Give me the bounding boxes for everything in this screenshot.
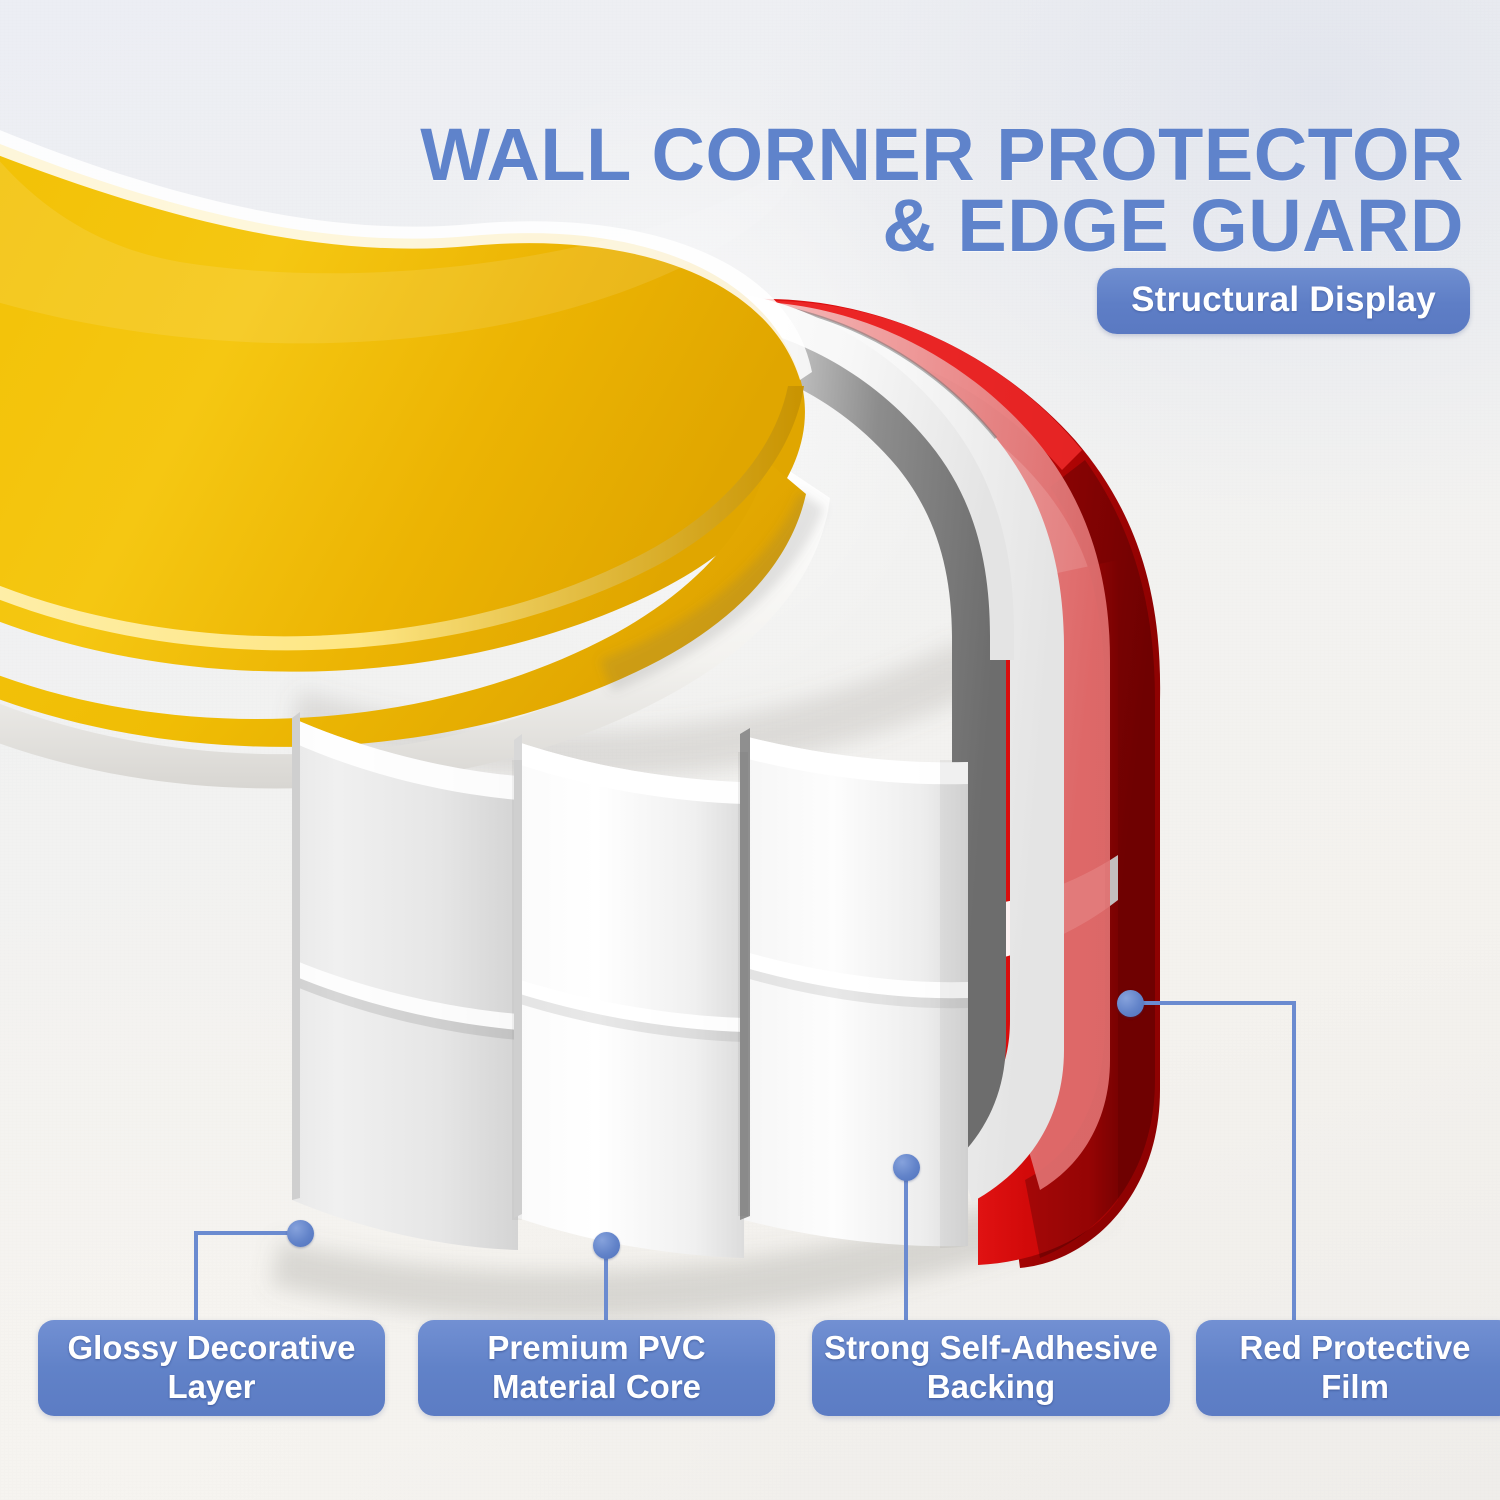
- callout-label-text: Premium PVC Material Core: [487, 1329, 705, 1407]
- callout-label-glossy-decorative-layer[interactable]: Glossy Decorative Layer: [38, 1320, 385, 1416]
- callout-label-strong-self-adhesive-backing[interactable]: Strong Self-Adhesive Backing: [812, 1320, 1170, 1416]
- callout-dot-red-protective-film[interactable]: [1117, 990, 1144, 1017]
- callout-label-text: Glossy Decorative Layer: [68, 1329, 356, 1407]
- callout-dot-premium-pvc-material-core[interactable]: [593, 1232, 620, 1259]
- connector-line-1: [196, 1233, 300, 1322]
- connector-line-4: [1132, 1003, 1294, 1322]
- callout-label-text: Red Protective Film: [1206, 1329, 1500, 1407]
- callout-dot-glossy-decorative-layer[interactable]: [287, 1220, 314, 1247]
- callout-dot-strong-self-adhesive-backing[interactable]: [893, 1154, 920, 1181]
- callout-label-red-protective-film[interactable]: Red Protective Film: [1196, 1320, 1500, 1416]
- callout-connectors: [0, 0, 1500, 1500]
- infographic-canvas: WALL CORNER PROTECTOR & EDGE GUARD Struc…: [0, 0, 1500, 1500]
- callout-label-premium-pvc-material-core[interactable]: Premium PVC Material Core: [418, 1320, 775, 1416]
- callout-group: Glossy Decorative Layer Premium PVC Mate…: [0, 0, 1500, 1500]
- callout-label-text: Strong Self-Adhesive Backing: [824, 1329, 1158, 1407]
